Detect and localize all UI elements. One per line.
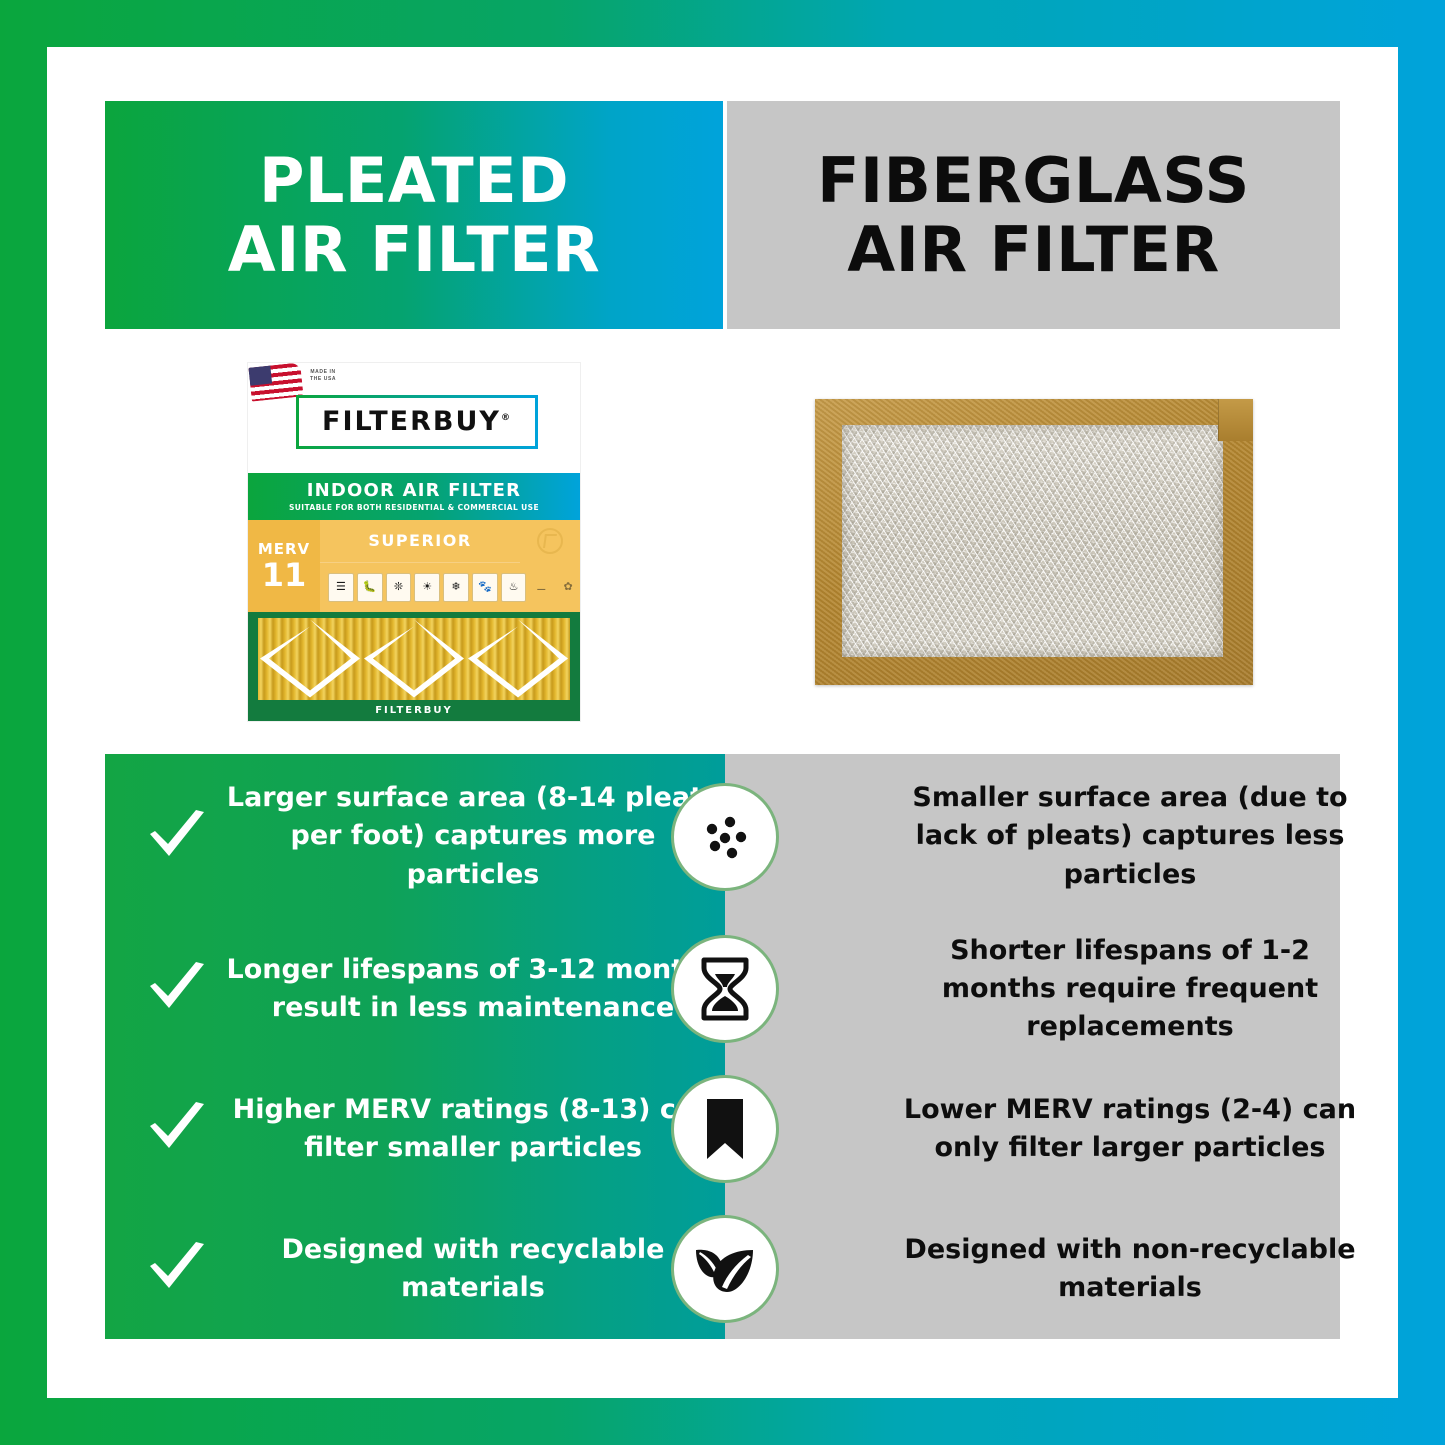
diamond-support [364,620,464,698]
pleated-header-panel: PLEATED AIR FILTER [105,101,723,329]
fiberglass-filter-image [815,399,1253,685]
bookmark-icon [671,1075,779,1183]
comparison-right-text: Lower MERV ratings (2-4) can only filter… [895,1091,1365,1168]
product-image-row: MADE IN THE USA FILTERBUY® INDOOR AIR FI… [105,329,1340,754]
fiberglass-header-panel: FIBERGLASS AIR FILTER [727,101,1340,329]
particles-icon [671,783,779,891]
box-footer-brand: FILTERBUY [248,700,580,721]
comparison-right-text: Shorter lifespans of 1-2 months require … [895,932,1365,1047]
comparison-right-text: Designed with non-recyclable materials [895,1231,1365,1308]
box-band-title: INDOOR AIR FILTER [307,480,522,501]
box-merv-panel: MERV 11 SUPERIOR ☰ 🐛 ❊ ☀ ❄ [248,520,580,612]
check-mark-icon [145,960,209,1018]
insect-icon: 🐛 [357,573,383,602]
comparison-row: Higher MERV ratings (8-13) can filter sm… [105,1059,1340,1199]
check-mark-icon [145,1100,209,1158]
box-tier-label: SUPERIOR [320,520,520,563]
fiberglass-product-cell [727,329,1340,754]
pet-dander-icon: 🐾 [472,573,498,602]
merv-value: 11 [262,559,307,591]
fiberglass-media [842,425,1223,657]
pleated-header-title: PLEATED AIR FILTER [228,146,600,285]
filterbuy-box-image: MADE IN THE USA FILTERBUY® INDOOR AIR FI… [248,363,580,721]
comparison-left-text: Longer lifespans of 3-12 months result i… [223,951,723,1028]
comparison-row: Longer lifespans of 3-12 months result i… [105,919,1340,1059]
virus-icon: ❊ [386,573,412,602]
fiberglass-header-title: FIBERGLASS AIR FILTER [817,146,1250,285]
fiberglass-frame-tab [1218,399,1253,441]
comparison-row: Designed with recyclable materials Desig… [105,1199,1340,1339]
dust-icon: ☰ [328,573,354,602]
comparison-infographic: PLEATED AIR FILTER FIBERGLASS AIR FILTER… [0,0,1445,1445]
box-merv-block: MERV 11 [248,520,320,612]
header-row: PLEATED AIR FILTER FIBERGLASS AIR FILTER [105,101,1340,329]
comparison-row: Larger surface area (8-14 pleats per foo… [105,754,1340,919]
diamond-support [260,620,360,698]
box-pleated-filter-art: FILTERBUY [248,612,580,721]
hourglass-icon [671,935,779,1043]
diamond-support-grid [258,618,570,700]
comparison-left-text: Higher MERV ratings (8-13) can filter sm… [223,1091,723,1168]
comparison-right-text: Smaller surface area (due to lack of ple… [895,779,1365,894]
pleated-product-cell: MADE IN THE USA FILTERBUY® INDOOR AIR FI… [105,329,723,754]
mold-icon: ☀ [414,573,440,602]
box-band-subtitle: SUITABLE FOR BOTH RESIDENTIAL & COMMERCI… [289,503,539,512]
comparison-section: Larger surface area (8-14 pleats per foo… [105,754,1340,1339]
comparison-left-text: Larger surface area (8-14 pleats per foo… [223,779,723,894]
infographic-content: PLEATED AIR FILTER FIBERGLASS AIR FILTER… [105,101,1340,1339]
box-indoor-air-filter-band: INDOOR AIR FILTER SUITABLE FOR BOTH RESI… [248,473,580,520]
diamond-support [468,620,568,698]
check-mark-icon [145,808,209,866]
check-mark-icon [145,1240,209,1298]
made-in-usa-label: MADE IN THE USA [310,369,336,384]
filterbuy-logo-text: FILTERBUY® [322,406,512,437]
certification-seal-icon [520,520,580,562]
pollen-icon: ❄ [443,573,469,602]
smoke-icon: ♨ [501,573,527,602]
box-feature-icon-strip: ☰ 🐛 ❊ ☀ ❄ 🐾 ♨ ⚊ ✿ [320,563,580,612]
comparison-left-text: Designed with recyclable materials [223,1231,723,1308]
bacteria-icon-faded: ⚊ [529,574,553,601]
leaf-eco-icon [671,1215,779,1323]
odor-icon-faded: ✿ [556,574,580,601]
filterbuy-logo-frame: FILTERBUY® [296,395,538,449]
box-top-panel: MADE IN THE USA FILTERBUY® [248,363,580,473]
